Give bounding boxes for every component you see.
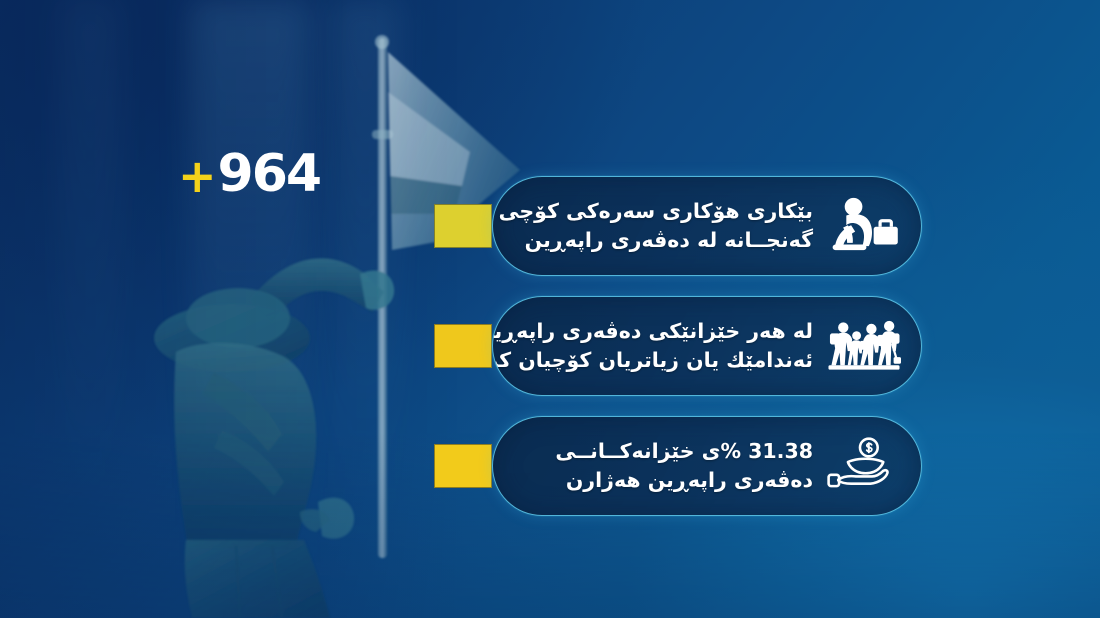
light-beam — [190, 0, 310, 618]
brand-logo[interactable]: + 964 — [178, 148, 320, 200]
logo-plus-symbol: + — [178, 153, 216, 199]
stat-card-poverty-rate[interactable]: 31.38 %ی خێزانەکــانــی دەڤەری راپەڕین ه… — [492, 416, 922, 516]
stat-card-wrapper: لە هەر خێزانێکی دەڤەری راپەڕین ئەندامێك … — [482, 296, 922, 396]
stat-card-migration-per-family[interactable]: لە هەر خێزانێکی دەڤەری راپەڕین ئەندامێك … — [492, 296, 922, 396]
infographic-stage: + 964 — [0, 0, 1100, 618]
stat-card-text: بێکاری هۆکاری سەرەکی کۆچی گەنجــانە لە د… — [499, 197, 813, 255]
stat-card-list: بێکاری هۆکاری سەرەکی کۆچی گەنجــانە لە د… — [482, 176, 922, 516]
card-line-1: بێکاری هۆکاری سەرەکی کۆچی — [499, 197, 813, 226]
card-accent-tab — [434, 324, 492, 368]
card-line-1: لە هەر خێزانێکی دەڤەری راپەڕین — [492, 317, 813, 346]
card-accent-tab — [434, 444, 492, 488]
stat-card-wrapper: بێکاری هۆکاری سەرەکی کۆچی گەنجــانە لە د… — [482, 176, 922, 276]
jobless-person-briefcase-icon — [827, 194, 901, 258]
card-line-2: گەنجــانە لە دەڤەری راپەڕین — [499, 226, 813, 255]
card-line-2: دەڤەری راپەڕین هەژارن — [519, 466, 813, 495]
card-line-2: ئەندامێك یان زیاتریان کۆچیان کردووە — [492, 346, 813, 375]
stat-card-text: 31.38 %ی خێزانەکــانــی دەڤەری راپەڕین ه… — [519, 437, 813, 495]
card-line-1: 31.38 %ی خێزانەکــانــی — [519, 437, 813, 466]
light-beam — [330, 0, 400, 618]
stat-card-wrapper: 31.38 %ی خێزانەکــانــی دەڤەری راپەڕین ه… — [482, 416, 922, 516]
stat-card-text: لە هەر خێزانێکی دەڤەری راپەڕین ئەندامێك … — [492, 317, 813, 375]
migrating-family-icon — [827, 314, 901, 378]
hand-bowl-coin-icon — [827, 434, 901, 498]
logo-digits: 964 — [218, 148, 321, 200]
light-beam — [60, 0, 120, 618]
card-accent-tab — [434, 204, 492, 248]
stat-card-unemployment[interactable]: بێکاری هۆکاری سەرەکی کۆچی گەنجــانە لە د… — [492, 176, 922, 276]
